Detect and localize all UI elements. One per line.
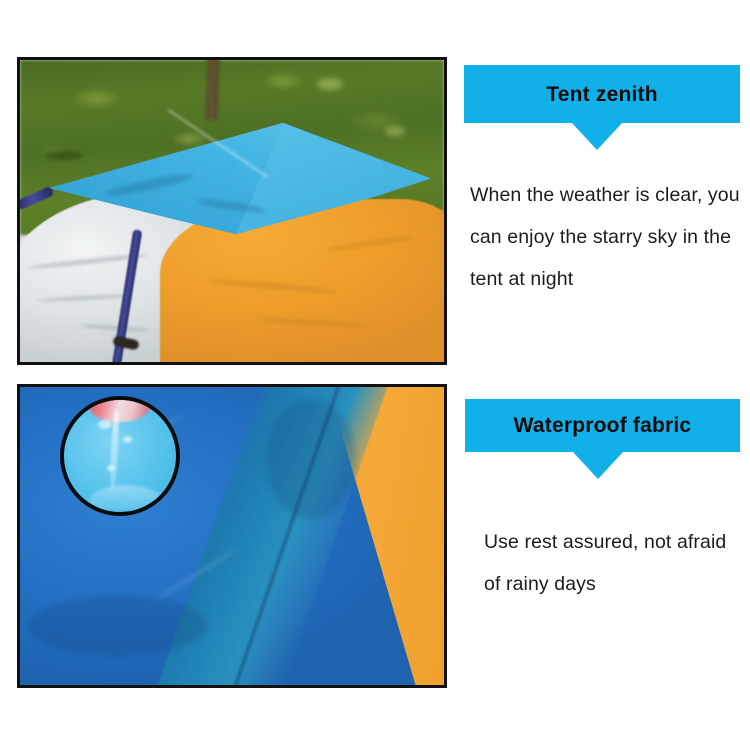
zenith-canopy-flap [41, 117, 431, 253]
waterproof-fabric-photo [17, 384, 447, 688]
water-droplet [107, 465, 115, 471]
waterproof-fabric-photo-content [20, 387, 444, 685]
magnifier-inset [60, 396, 180, 516]
feature-title: Waterproof fabric [514, 415, 692, 436]
water-droplet [98, 420, 112, 429]
fabric-shading [266, 399, 356, 519]
tent-zenith-photo-content [20, 60, 444, 362]
banner-tail-icon [572, 123, 622, 150]
feature-banner-waterproof-fabric: Waterproof fabric [465, 399, 740, 452]
tent-zenith-photo [17, 57, 447, 365]
fabric-shading [28, 596, 208, 656]
water-droplet [123, 436, 132, 443]
grass-highlight [317, 78, 343, 90]
feature-title: Tent zenith [546, 84, 657, 105]
feature-description-tent-zenith: When the weather is clear, you can enjoy… [470, 174, 746, 300]
water-pool [89, 485, 163, 510]
feature-banner-tent-zenith: Tent zenith [464, 65, 740, 123]
water-source-object [89, 396, 152, 422]
product-feature-infographic: Tent zenith When the weather is clear, y… [0, 0, 750, 750]
banner-tail-icon [573, 452, 623, 479]
feature-description-waterproof-fabric: Use rest assured, not afraid of rainy da… [484, 521, 746, 605]
tree-trunk [205, 60, 218, 121]
